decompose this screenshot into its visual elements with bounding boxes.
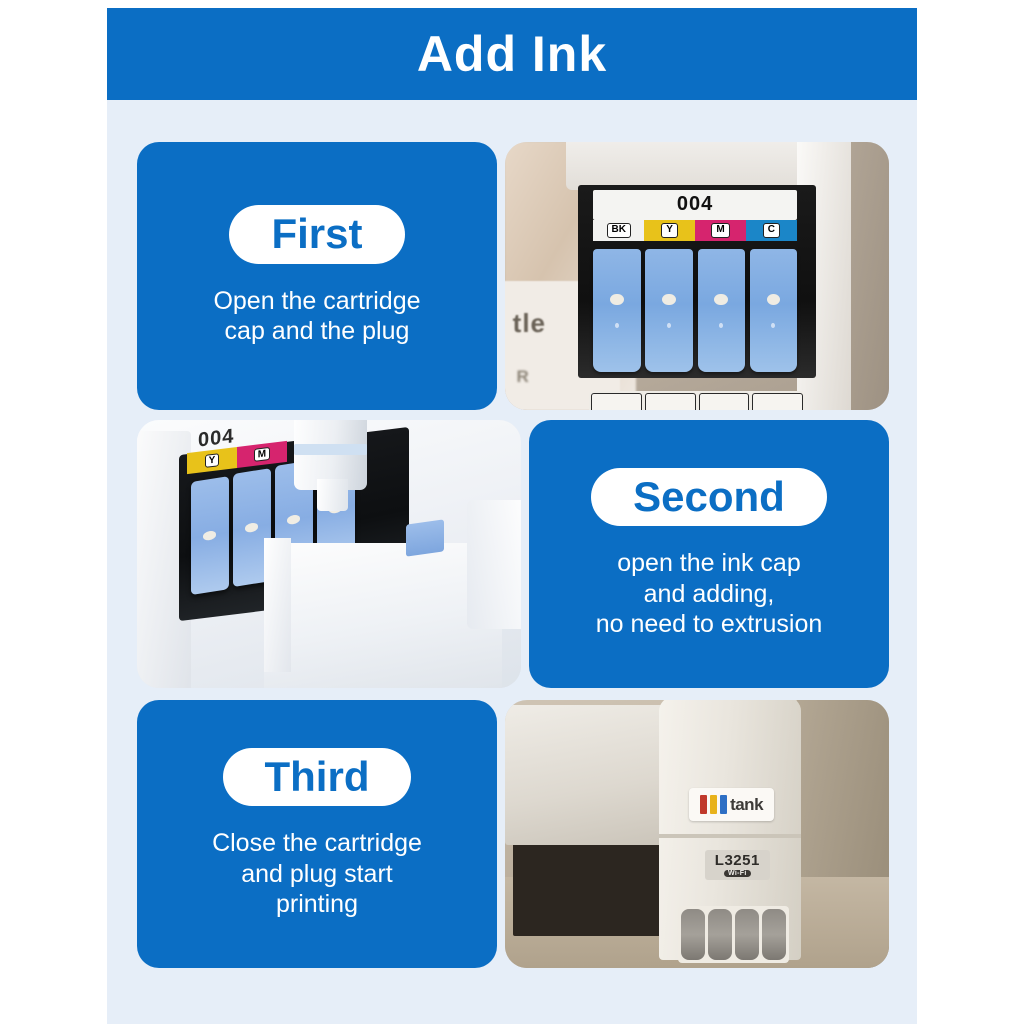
- step-description-third: Close the cartridge and plug start print…: [212, 828, 422, 920]
- content-area: First Open the cartridge cap and the plu…: [107, 100, 917, 1024]
- ink-bottle-label: Premium: [298, 420, 363, 421]
- step-badge-label: Third: [265, 755, 370, 799]
- blue-cap-clip: [406, 519, 444, 557]
- printer-control-panel: [589, 391, 804, 410]
- step-badge-second: Second: [591, 468, 827, 526]
- ink-chip-m: M: [254, 447, 270, 462]
- step-badge-label: First: [271, 212, 362, 256]
- ecotank-logo-text: tank: [730, 795, 763, 815]
- logo-bottle-icon: [720, 795, 727, 815]
- ink-chip-m: M: [711, 223, 729, 238]
- control-button-icon: [699, 393, 750, 410]
- step-badge-label: Second: [633, 475, 785, 519]
- step-badge-third: Third: [223, 748, 412, 806]
- control-button-icon: [591, 393, 642, 410]
- step-row-second: 004 Y M Premium: [137, 420, 889, 688]
- ink-tank-window: [762, 909, 786, 959]
- ink-tank-window: [735, 909, 759, 959]
- step-photo-third: tank L3251 Wi-Fi: [505, 700, 889, 968]
- step-photo-second: 004 Y M Premium: [137, 420, 521, 688]
- photo-paper-text: tle: [513, 308, 546, 339]
- ink-bottle-ring: [294, 444, 367, 455]
- control-button-icon: [752, 393, 803, 410]
- printer-tray-right: [467, 500, 521, 629]
- ink-chip-c: C: [763, 223, 780, 238]
- step-text-card-first: First Open the cartridge cap and the plu…: [137, 142, 497, 410]
- step-text-card-second: Second open the ink cap and adding, no n…: [529, 420, 889, 688]
- ink-bottle-nozzle: [317, 479, 348, 511]
- logo-bottle-icon: [710, 795, 717, 815]
- printer-panel-seam: [659, 834, 801, 838]
- cartridge-tab: [698, 249, 745, 372]
- cartridge-tab: [593, 249, 640, 372]
- poster-page: Add Ink First Open the cartridge cap and…: [107, 0, 917, 1024]
- ink-slot-bk: BK: [593, 220, 644, 241]
- ink-color-strip: BK Y M C: [593, 220, 797, 241]
- wifi-badge: Wi-Fi: [724, 870, 751, 877]
- cartridge-tab: [191, 476, 229, 595]
- step-text-card-third: Third Close the cartridge and plug start…: [137, 700, 497, 968]
- ink-tank-window: [708, 909, 732, 959]
- cartridge-tab: [750, 249, 797, 372]
- ink-chip-y: Y: [661, 223, 678, 238]
- ink-slot-c: C: [746, 220, 797, 241]
- ink-slot-m: M: [695, 220, 746, 241]
- printer-tray-wall: [264, 538, 291, 672]
- step-badge-first: First: [229, 205, 404, 263]
- printer-output-tray: [264, 543, 502, 688]
- logo-bottle-icon: [700, 795, 707, 815]
- step-photo-first: tle R 004 BK Y M: [505, 142, 889, 410]
- ink-tank-window-group: [678, 906, 789, 962]
- control-button-icon: [645, 393, 696, 410]
- header-bar: Add Ink: [107, 8, 917, 100]
- printer-scanner-body: [505, 705, 666, 844]
- ink-chip-bk: BK: [607, 223, 631, 238]
- step-row-third: Third Close the cartridge and plug start…: [137, 700, 889, 968]
- printer-model-badge: L3251 Wi-Fi: [705, 850, 770, 879]
- step-description-first: Open the cartridge cap and the plug: [213, 286, 420, 347]
- cartridge-tab: [645, 249, 692, 372]
- cartridge-code-label: 004: [593, 190, 797, 219]
- page-title: Add Ink: [417, 29, 607, 79]
- step-description-second: open the ink cap and adding, no need to …: [596, 548, 823, 640]
- ink-slot-y: Y: [644, 220, 695, 241]
- printer-model-text: L3251: [715, 852, 760, 869]
- cartridge-tab-group: [593, 249, 797, 372]
- photo-shadow-area: [513, 834, 667, 936]
- ink-chip-y: Y: [205, 453, 220, 468]
- ink-tank-window: [681, 909, 705, 959]
- cartridge-code-text: 004: [677, 193, 713, 216]
- ecotank-logo: tank: [689, 788, 773, 820]
- photo-paper-text-secondary: R: [517, 367, 532, 387]
- step-row-first: First Open the cartridge cap and the plu…: [137, 142, 889, 410]
